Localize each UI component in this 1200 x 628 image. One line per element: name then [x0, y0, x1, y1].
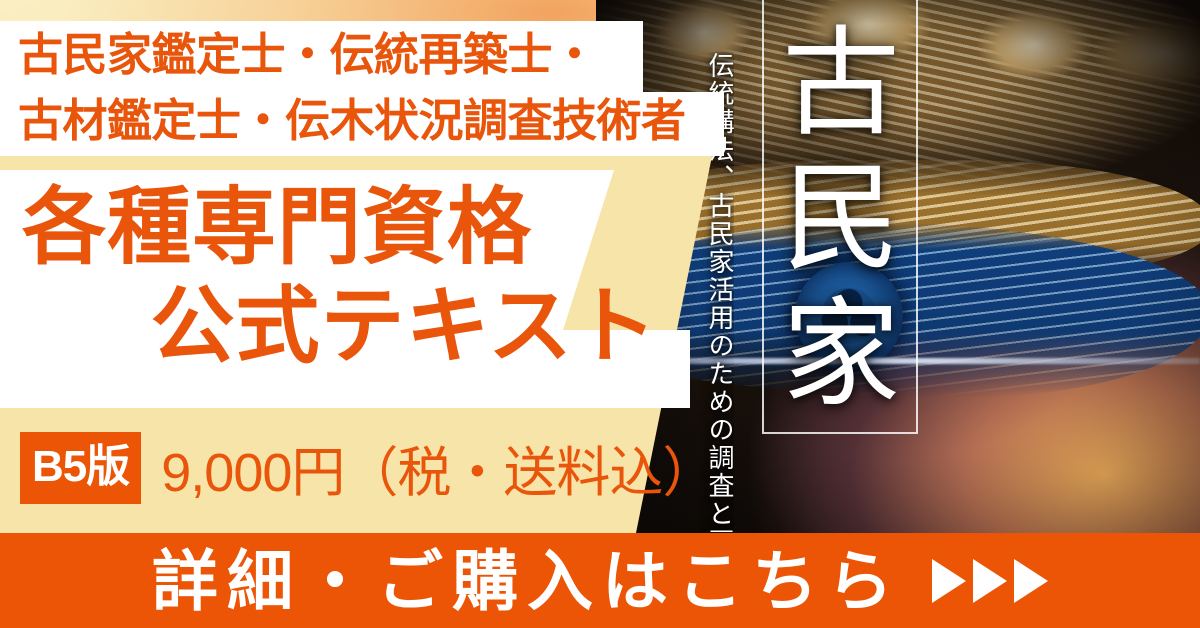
chevron-right-icon-2 [973, 559, 1007, 603]
chevron-right-icon-3 [1014, 559, 1048, 603]
cover-title-char-3: 家 [782, 297, 900, 415]
promo-banner: 伝統構法、古民家活用のための調査と再生の 古 民 家 古民家鑑定士・伝統再築士・… [0, 0, 1200, 628]
cta-bar[interactable]: 詳細・ご購入はこちら [0, 533, 1200, 628]
cover-title-char-2: 民 [782, 161, 900, 279]
price-text: 9,000円（税・送料込） [161, 428, 715, 507]
headline-line-1: 各種専門資格 [0, 178, 672, 277]
headline-line-2: 公式テキスト [0, 277, 672, 376]
size-badge: B5版 [20, 432, 141, 504]
price-row: B5版 9,000円（税・送料込） [20, 428, 715, 507]
main-headline: 各種専門資格 公式テキスト [0, 178, 672, 376]
qualifications-subheading: 古民家鑑定士・伝統再築士・ 古材鑑定士・伝木状況調査技術者 [18, 22, 728, 153]
cta-arrows [932, 559, 1048, 603]
cta-label: 詳細・ご購入はこちら [152, 548, 902, 614]
chevron-right-icon-1 [932, 559, 966, 603]
cover-title: 古 民 家 [766, 8, 916, 432]
cover-title-char-1: 古 [782, 26, 900, 144]
